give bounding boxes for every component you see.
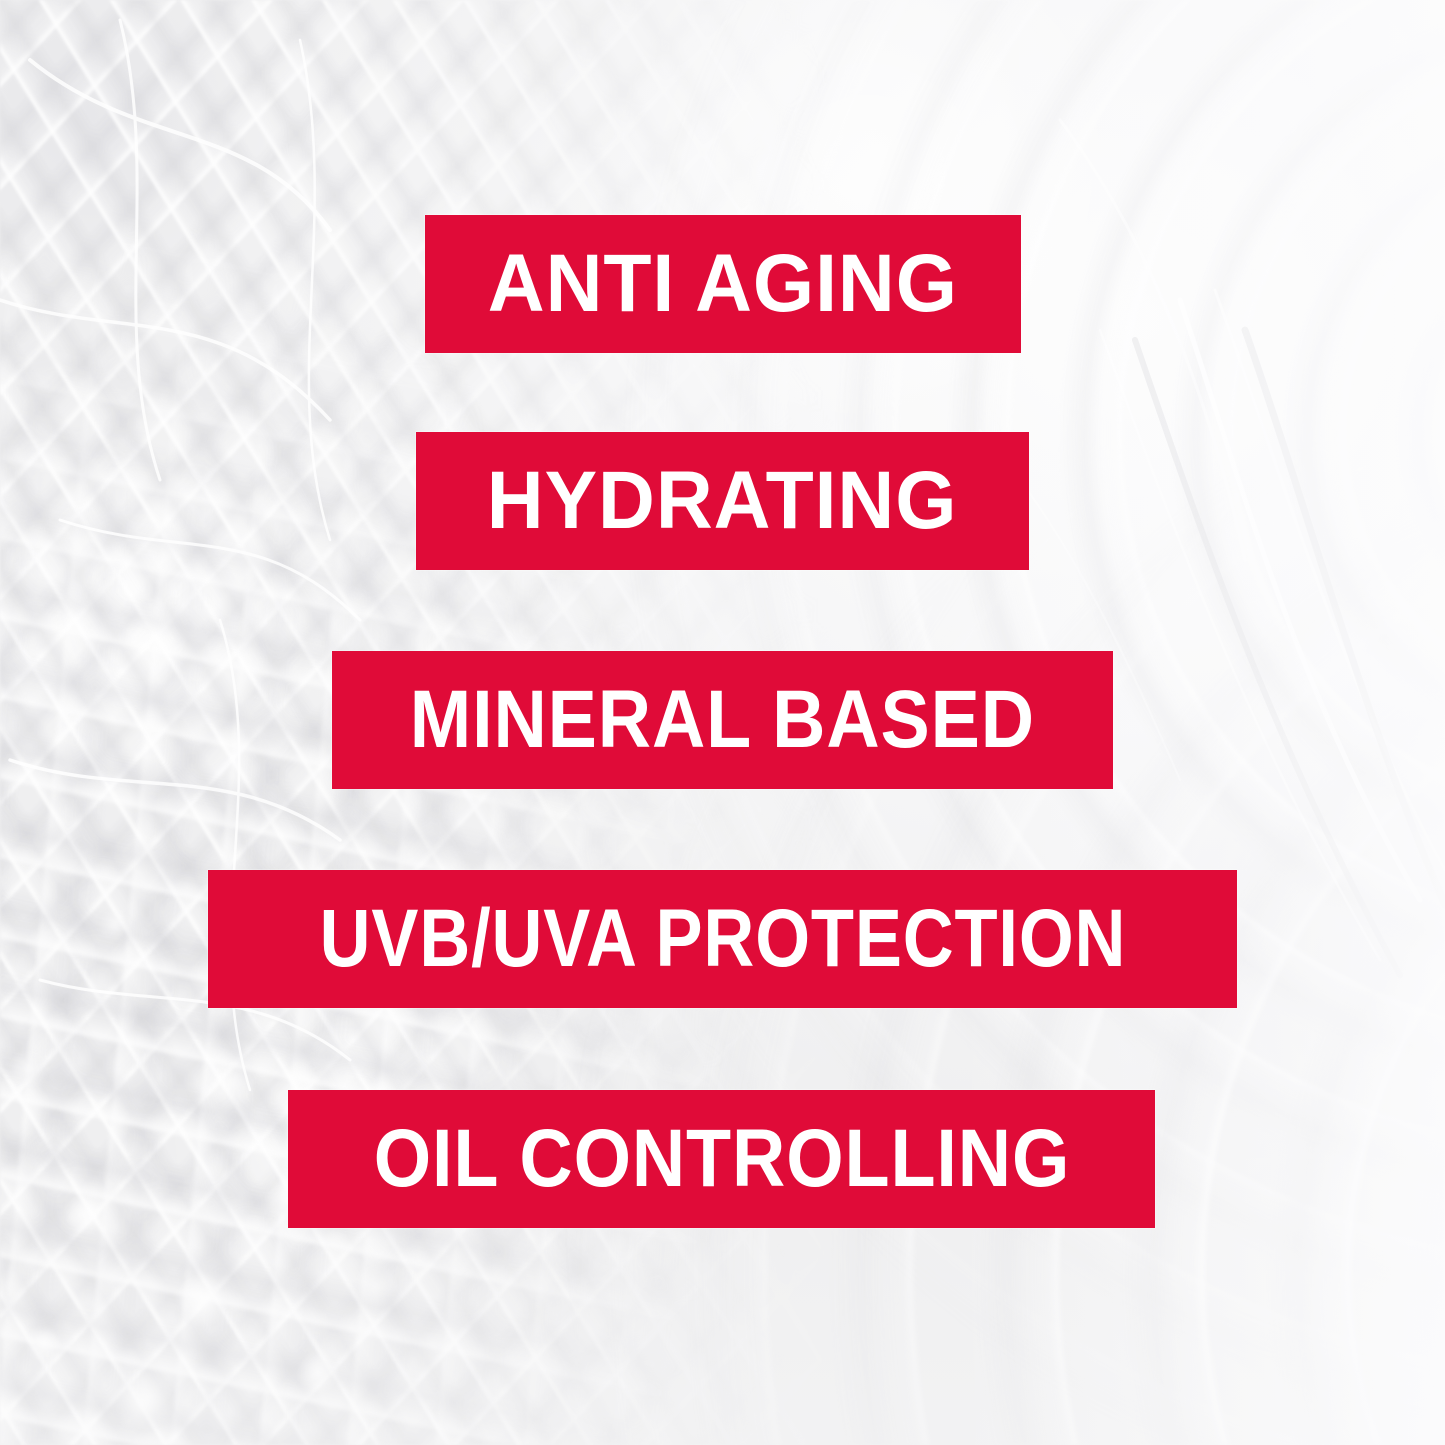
benefit-banner-mineral-based: MINERAL BASED bbox=[332, 651, 1113, 789]
benefit-banner-label: UVB/UVA PROTECTION bbox=[319, 898, 1126, 980]
benefit-banner-uvb-uva-protection: UVB/UVA PROTECTION bbox=[208, 870, 1237, 1008]
benefit-banner-label: OIL CONTROLLING bbox=[373, 1118, 1070, 1200]
benefit-banner-label: MINERAL BASED bbox=[410, 679, 1035, 761]
benefit-banner-oil-controlling: OIL CONTROLLING bbox=[288, 1090, 1155, 1228]
benefit-banner-anti-aging: ANTI AGING bbox=[425, 215, 1021, 353]
product-benefit-graphic: ANTI AGING HYDRATING MINERAL BASED UVB/U… bbox=[0, 0, 1445, 1445]
benefit-banner-hydrating: HYDRATING bbox=[416, 432, 1029, 570]
benefit-banner-label: ANTI AGING bbox=[488, 243, 958, 325]
benefit-banner-label: HYDRATING bbox=[487, 460, 958, 542]
